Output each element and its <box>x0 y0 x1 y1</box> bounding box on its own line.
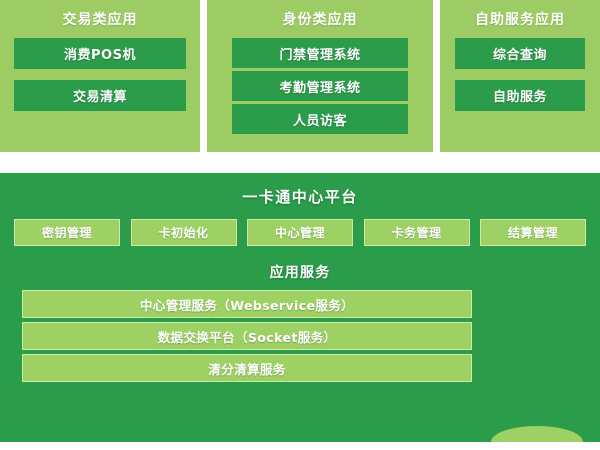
application-services-title: 应用服务 <box>0 262 600 282</box>
center-platform-section: 一卡通中心平台 密钥管理 卡初始化 中心管理 卡务管理 结算管理 应用服务 中心… <box>0 173 600 442</box>
app-box-comprehensive-query[interactable]: 综合查询 <box>455 38 585 69</box>
app-box-transaction-settlement[interactable]: 交易清算 <box>14 80 186 111</box>
platform-title: 一卡通中心平台 <box>0 173 600 207</box>
application-panels-row: 交易类应用 消费POS机 交易清算 身份类应用 门禁管理系统 考勤管理系统 人员… <box>0 0 600 152</box>
panel-title-transaction: 交易类应用 <box>63 9 138 29</box>
bottom-white-strip <box>0 442 600 450</box>
module-key-management[interactable]: 密钥管理 <box>14 219 120 246</box>
application-services-stack: 中心管理服务（Webservice服务） 数据交换平台（Socket服务） 清分… <box>22 290 472 382</box>
service-clearing-settlement[interactable]: 清分清算服务 <box>22 354 472 382</box>
application-services-wrap: 中心管理服务（Webservice服务） 数据交换平台（Socket服务） 清分… <box>0 290 600 382</box>
panel-transaction-applications: 交易类应用 消费POS机 交易清算 <box>0 0 200 152</box>
panel-items-transaction: 消费POS机 交易清算 <box>0 38 200 111</box>
section-divider <box>0 152 600 173</box>
service-data-exchange-socket[interactable]: 数据交换平台（Socket服务） <box>22 322 472 350</box>
panel-identity-applications: 身份类应用 门禁管理系统 考勤管理系统 人员访客 <box>207 0 433 152</box>
app-box-pos-machine[interactable]: 消费POS机 <box>14 38 186 69</box>
panel-items-selfservice: 综合查询 自助服务 <box>440 38 600 111</box>
panel-items-identity: 门禁管理系统 考勤管理系统 人员访客 <box>207 38 433 134</box>
app-box-visitor[interactable]: 人员访客 <box>232 104 408 134</box>
app-box-self-service[interactable]: 自助服务 <box>455 80 585 111</box>
platform-modules-row: 密钥管理 卡初始化 中心管理 卡务管理 结算管理 <box>0 219 600 246</box>
panel-title-identity: 身份类应用 <box>283 9 358 29</box>
diagram-canvas: 交易类应用 消费POS机 交易清算 身份类应用 门禁管理系统 考勤管理系统 人员… <box>0 0 600 450</box>
service-center-management-webservice[interactable]: 中心管理服务（Webservice服务） <box>22 290 472 318</box>
app-box-access-control[interactable]: 门禁管理系统 <box>232 38 408 68</box>
module-card-affairs-management[interactable]: 卡务管理 <box>364 219 470 246</box>
module-settlement-management[interactable]: 结算管理 <box>480 219 586 246</box>
module-center-management[interactable]: 中心管理 <box>247 219 353 246</box>
panel-selfservice-applications: 自助服务应用 综合查询 自助服务 <box>440 0 600 152</box>
module-card-initialization[interactable]: 卡初始化 <box>131 219 237 246</box>
panel-title-selfservice: 自助服务应用 <box>475 9 565 29</box>
app-box-attendance[interactable]: 考勤管理系统 <box>232 71 408 101</box>
